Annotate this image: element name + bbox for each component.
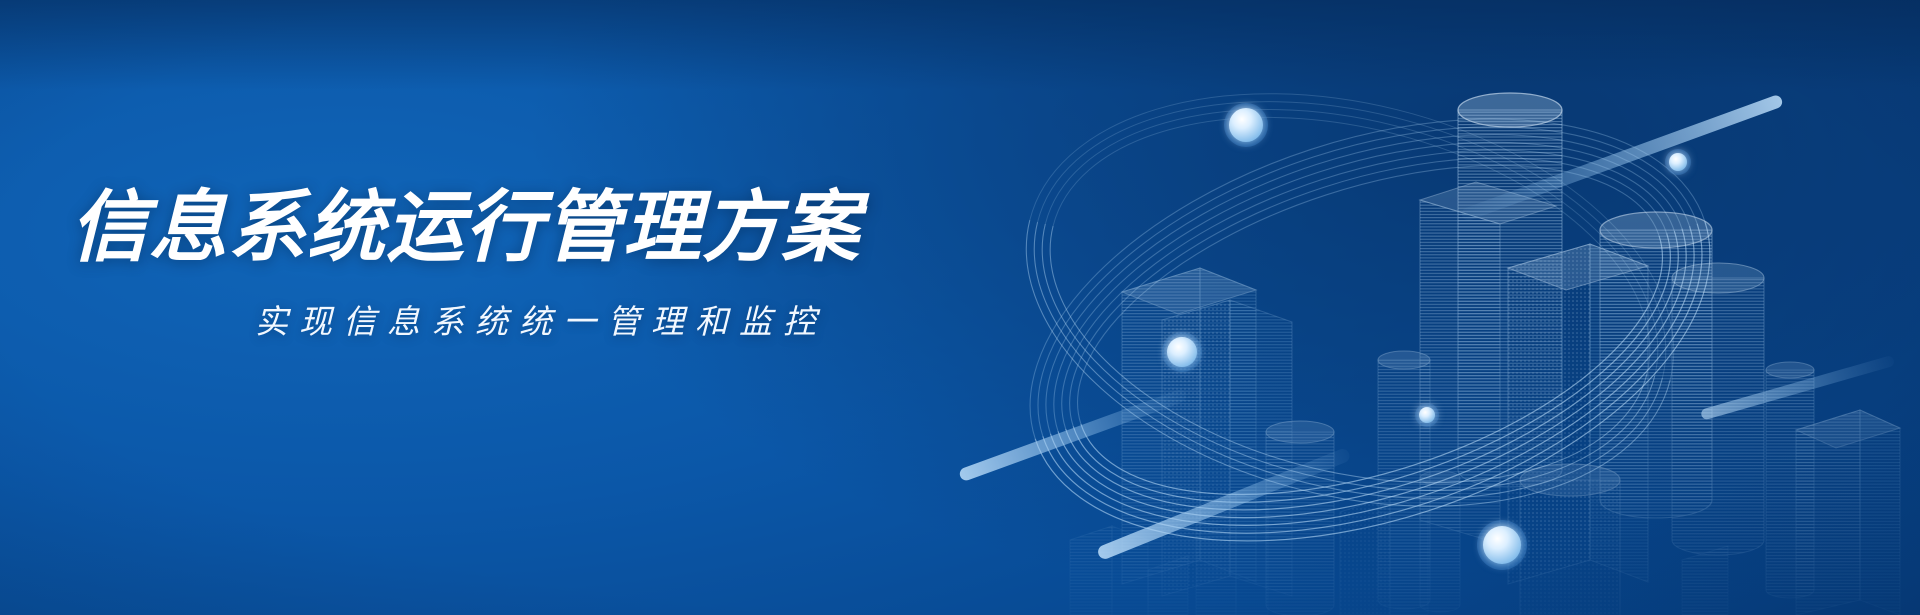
- banner-root: 信息系统运行管理方案 实现信息系统统一管理和监控: [0, 0, 1920, 615]
- page-title: 信息系统运行管理方案: [70, 185, 1030, 269]
- page-subtitle: 实现信息系统统一管理和监控: [70, 295, 1030, 343]
- headline-block: 信息系统运行管理方案 实现信息系统统一管理和监控: [70, 185, 1030, 343]
- background-top-shade: [0, 0, 1920, 90]
